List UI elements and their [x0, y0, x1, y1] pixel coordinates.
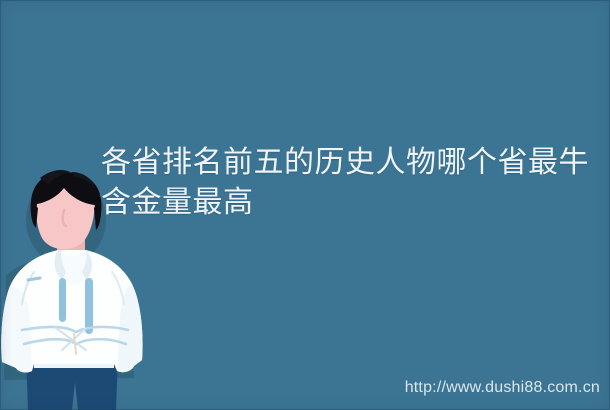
hoodie	[1, 250, 142, 372]
drawstring-left	[59, 278, 66, 322]
page-title: 各省排名前五的历史人物哪个省最牛含金量最高	[101, 143, 599, 223]
drawstring-right	[85, 278, 93, 334]
site-watermark-url: http://www.dushi88.com.cn	[405, 379, 600, 397]
article-cover-card: 各省排名前五的历史人物哪个省最牛含金量最高 http://www.dushi88…	[0, 0, 610, 410]
